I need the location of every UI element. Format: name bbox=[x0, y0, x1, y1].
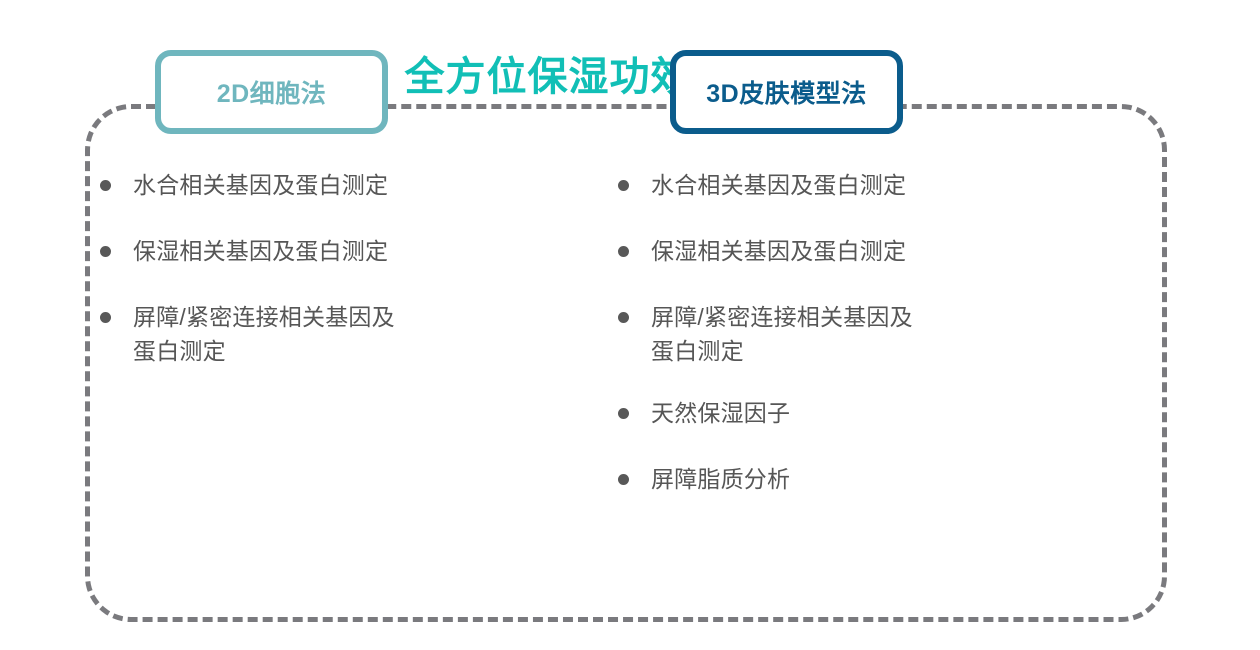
list-item[interactable]: 天然保湿因子 bbox=[618, 396, 988, 430]
list-item-label: 保湿相关基因及蛋白测定 bbox=[133, 234, 460, 268]
list-item-label: 水合相关基因及蛋白测定 bbox=[651, 168, 988, 202]
list-item[interactable]: 屏障脂质分析 bbox=[618, 462, 988, 496]
bullet-icon bbox=[618, 408, 629, 419]
list-item-label: 屏障/紧密连接相关基因及 蛋白测定 bbox=[651, 300, 988, 368]
method-header-3d[interactable]: 3D皮肤模型法 bbox=[670, 50, 903, 134]
list-item-label: 保湿相关基因及蛋白测定 bbox=[651, 234, 988, 268]
list-item[interactable]: 水合相关基因及蛋白测定 bbox=[100, 168, 460, 202]
list-item[interactable]: 屏障/紧密连接相关基因及 蛋白测定 bbox=[100, 300, 460, 368]
bullet-icon bbox=[618, 474, 629, 485]
method-header-2d[interactable]: 2D细胞法 bbox=[155, 50, 388, 134]
bullet-icon bbox=[618, 180, 629, 191]
list-item-label: 水合相关基因及蛋白测定 bbox=[133, 168, 460, 202]
bullet-icon bbox=[618, 312, 629, 323]
list-item[interactable]: 屏障/紧密连接相关基因及 蛋白测定 bbox=[618, 300, 988, 368]
assay-list-2d: 水合相关基因及蛋白测定 保湿相关基因及蛋白测定 屏障/紧密连接相关基因及 蛋白测… bbox=[100, 168, 460, 396]
bullet-icon bbox=[100, 312, 111, 323]
method-header-3d-label: 3D皮肤模型法 bbox=[706, 74, 866, 110]
bullet-icon bbox=[100, 246, 111, 257]
list-item[interactable]: 保湿相关基因及蛋白测定 bbox=[100, 234, 460, 268]
bullet-icon bbox=[618, 246, 629, 257]
method-header-2d-label: 2D细胞法 bbox=[217, 74, 326, 110]
bullet-icon bbox=[100, 180, 111, 191]
list-item-label: 屏障脂质分析 bbox=[651, 462, 988, 496]
list-item-label: 屏障/紧密连接相关基因及 蛋白测定 bbox=[133, 300, 460, 368]
list-item[interactable]: 水合相关基因及蛋白测定 bbox=[618, 168, 988, 202]
slide-root: 全方位保湿功效体外评价 2D细胞法 水合相关基因及蛋白测定 保湿相关基因及蛋白测… bbox=[0, 0, 1260, 650]
assay-list-3d: 水合相关基因及蛋白测定 保湿相关基因及蛋白测定 屏障/紧密连接相关基因及 蛋白测… bbox=[618, 168, 988, 496]
list-item-label: 天然保湿因子 bbox=[651, 396, 988, 430]
list-item[interactable]: 保湿相关基因及蛋白测定 bbox=[618, 234, 988, 268]
